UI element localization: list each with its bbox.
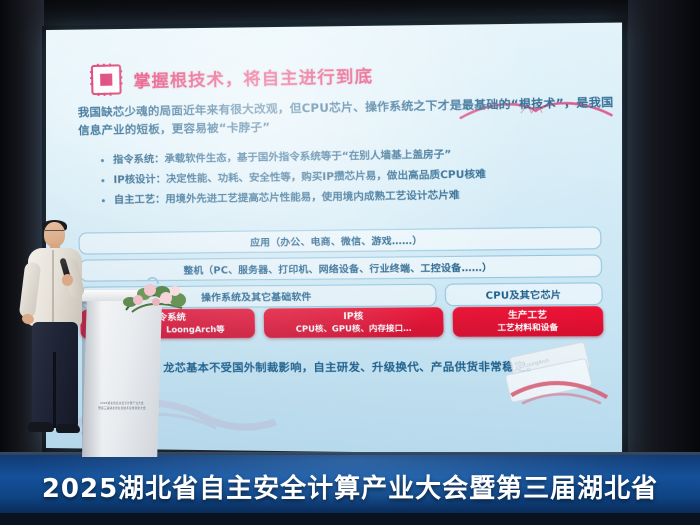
bullet-dot-icon <box>101 159 104 162</box>
red-box-manufacturing-process: 生产工艺 工艺材料和设备 <box>452 306 603 337</box>
red-box-subtitle: 工艺材料和设备 <box>455 321 602 333</box>
speaker-shirt-placket <box>52 250 54 322</box>
slide-title: 掌握根技术，将自主进行到底 <box>133 61 373 91</box>
bullet-key: IP核设计： <box>113 174 166 186</box>
stack-box-application: 应用（办公、电商、微信、游戏……） <box>78 226 601 254</box>
speaker-leg-gap <box>53 352 56 428</box>
stage-banner: 2025湖北省自主安全计算产业大会暨第三届湖北省 <box>0 455 700 513</box>
red-box-ip-core: IP核 CPU核、GPU核、内存接口… <box>264 307 443 338</box>
slide-paragraph: 我国缺芯少魂的局面近年来有很大改观，但CPU芯片、操作系统之下才是最基础的“根技… <box>78 93 617 141</box>
conference-photo: 掌握根技术，将自主进行到底 我国缺芯少魂的局面近年来有很大改观，但CPU芯片、操… <box>0 0 700 525</box>
bullet-dot-icon <box>101 179 104 182</box>
bullet-key: 指令系统： <box>113 154 165 166</box>
bullet-dot-icon <box>102 199 105 202</box>
speaker-right-shoe <box>56 424 80 433</box>
hall-right-wall <box>628 0 700 455</box>
red-box-title: IP核 <box>266 310 441 323</box>
red-box-title: 生产工艺 <box>455 309 602 322</box>
flower-arrangement <box>118 272 190 316</box>
bullet-text: 承载软件生态，基于国外指令系统等于“在别人墙基上盖房子” <box>164 149 451 165</box>
podium-label: 2025湖北省自主安全计算产业大会 暨第三届湖北省信息技术应用创新大会 <box>94 402 150 411</box>
bullet-text: 用境外先进工艺提高芯片性能易，使用境内成熟工艺设计芯片难 <box>165 190 460 205</box>
product-card-graphic-icon: LoongArch <box>495 341 622 414</box>
stage-floor-shadow <box>0 513 700 525</box>
bullet-text: 决定性能、功耗、安全性等，购买IP攒芯片易，做出高品质CPU核难 <box>166 169 486 185</box>
speaker-person <box>18 222 98 458</box>
stack-box-cpu-chips: CPU及其它芯片 <box>444 282 602 306</box>
podium-label-line-1: 2025湖北省自主安全计算产业大会 <box>94 402 150 407</box>
speaker-left-shoe <box>28 422 54 432</box>
glasses-icon <box>45 230 64 235</box>
bullet-key: 自主工艺： <box>114 194 166 206</box>
podium-label-line-2: 暨第三届湖北省信息技术应用创新大会 <box>94 407 150 412</box>
banner-title: 2025湖北省自主安全计算产业大会暨第三届湖北省 <box>42 468 658 505</box>
speaker-right-hand <box>62 274 73 286</box>
red-box-subtitle: CPU核、GPU核、内存接口… <box>266 322 441 334</box>
slide-bullet-list: 指令系统：承载软件生态，基于国外指令系统等于“在别人墙基上盖房子” IP核设计：… <box>101 142 622 211</box>
slide-title-row: 掌握根技术，将自主进行到底 <box>91 59 374 95</box>
chip-logo-icon <box>91 64 122 95</box>
